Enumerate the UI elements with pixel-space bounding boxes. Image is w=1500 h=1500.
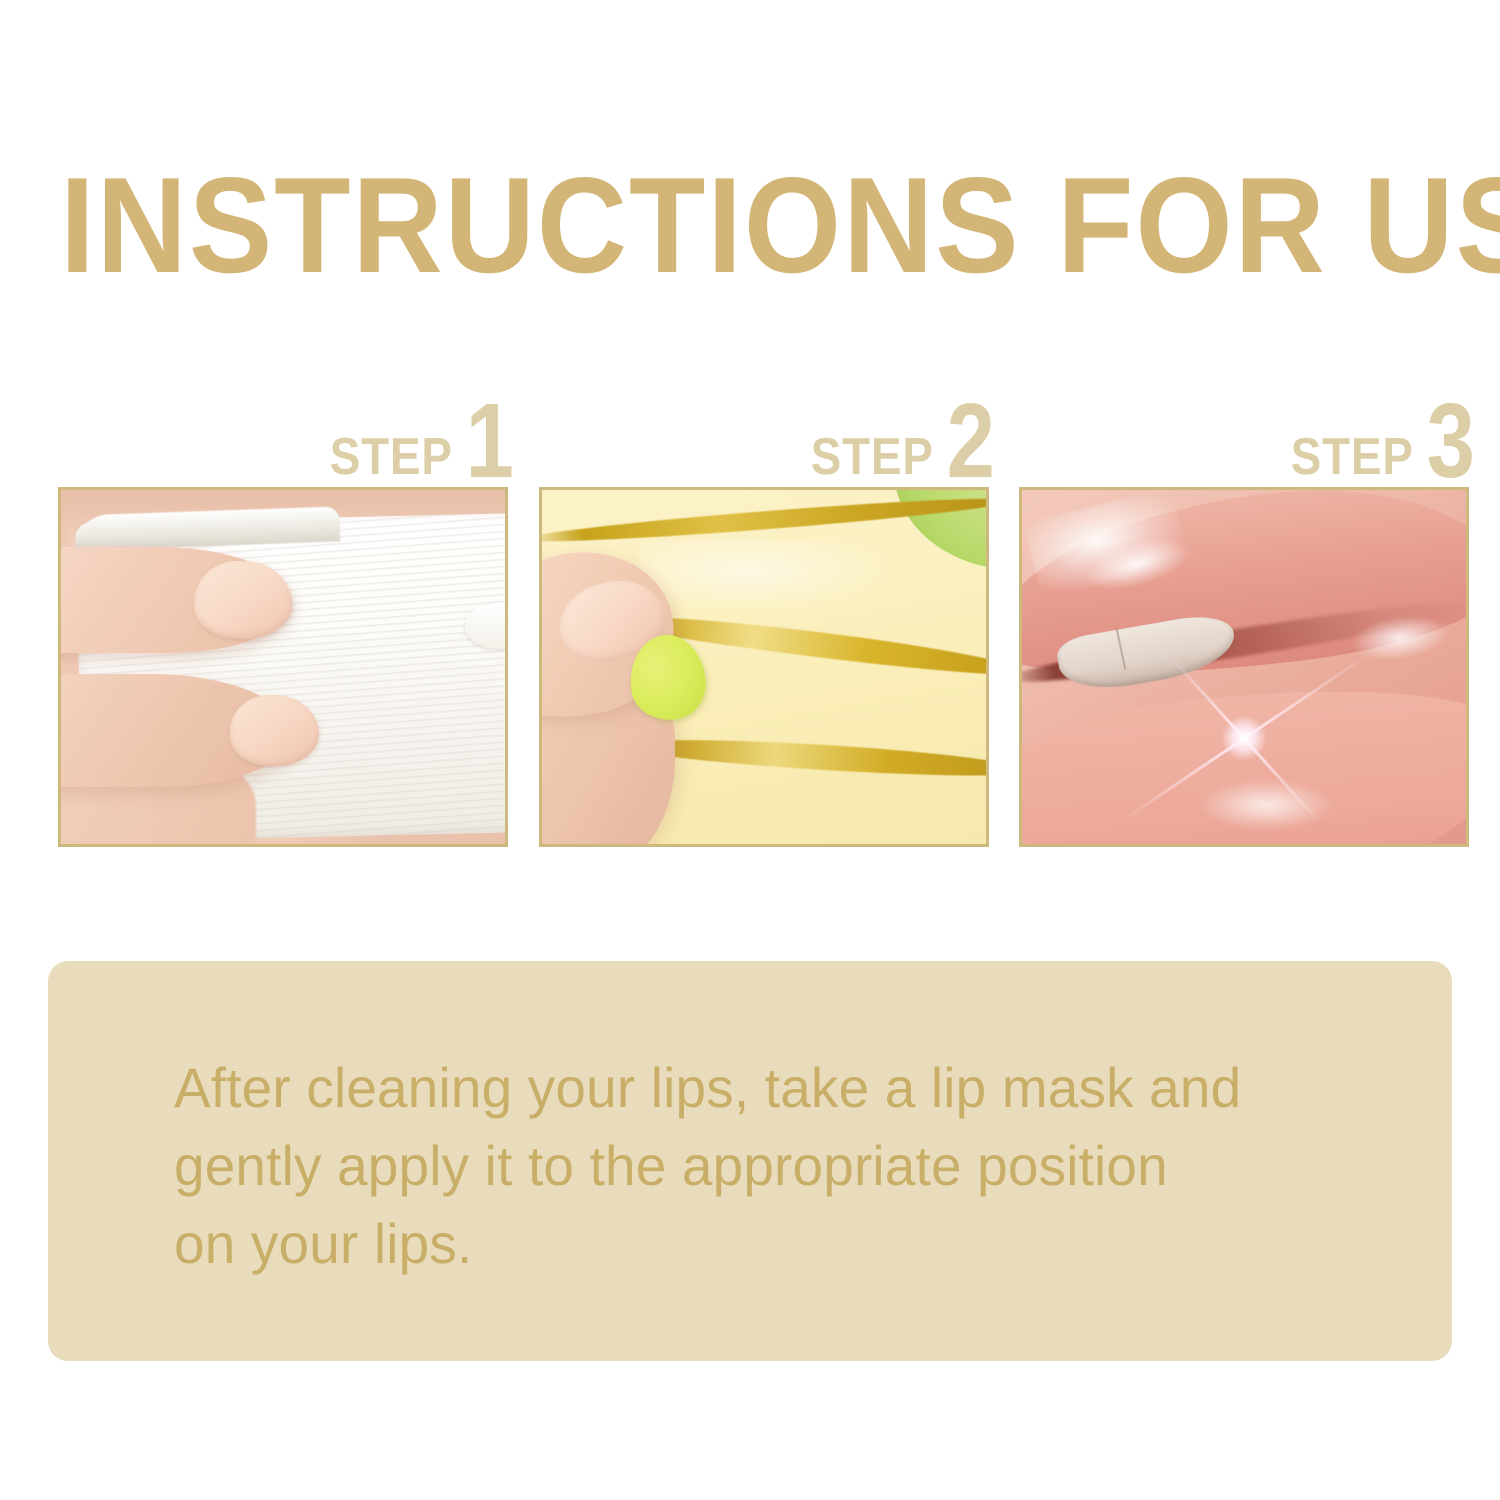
instructions-caption-box: After cleaning your lips, take a lip mas… <box>48 961 1452 1361</box>
steps-row: STEP1 STEP2 <box>58 383 1475 853</box>
step-1-column: STEP1 <box>58 383 514 853</box>
page-title: INSTRUCTIONS FOR USE <box>60 155 1440 295</box>
step-3-number: 3 <box>1427 397 1475 485</box>
instructions-caption-text: After cleaning your lips, take a lip mas… <box>174 1049 1330 1283</box>
instructions-infographic: INSTRUCTIONS FOR USE STEP1 <box>0 0 1500 1500</box>
step-2-image-frame <box>539 487 989 847</box>
middle-fingernail <box>230 695 319 766</box>
step-1-label: STEP1 <box>58 383 514 483</box>
gel-lip-mask-photo <box>542 490 986 844</box>
gel-highlight <box>639 540 905 618</box>
step-1-number: 1 <box>466 397 514 485</box>
sparkle-core <box>1221 715 1267 761</box>
cotton-pad-cleansing-photo <box>61 490 505 844</box>
step-3-word: STEP <box>1291 431 1414 483</box>
step-2-number: 2 <box>946 397 994 485</box>
step-1-word: STEP <box>330 431 453 483</box>
step-2-label: STEP2 <box>539 383 995 483</box>
step-3-label: STEP3 <box>1019 383 1475 483</box>
gloss-highlight-lower <box>1200 780 1333 830</box>
step-2-column: STEP2 <box>539 383 995 853</box>
step-1-image-frame <box>58 487 508 847</box>
step-2-word: STEP <box>810 431 933 483</box>
step-3-column: STEP3 <box>1019 383 1475 853</box>
glossy-lips-photo <box>1022 490 1466 844</box>
step-3-image-frame <box>1019 487 1469 847</box>
index-fingernail <box>194 561 292 639</box>
